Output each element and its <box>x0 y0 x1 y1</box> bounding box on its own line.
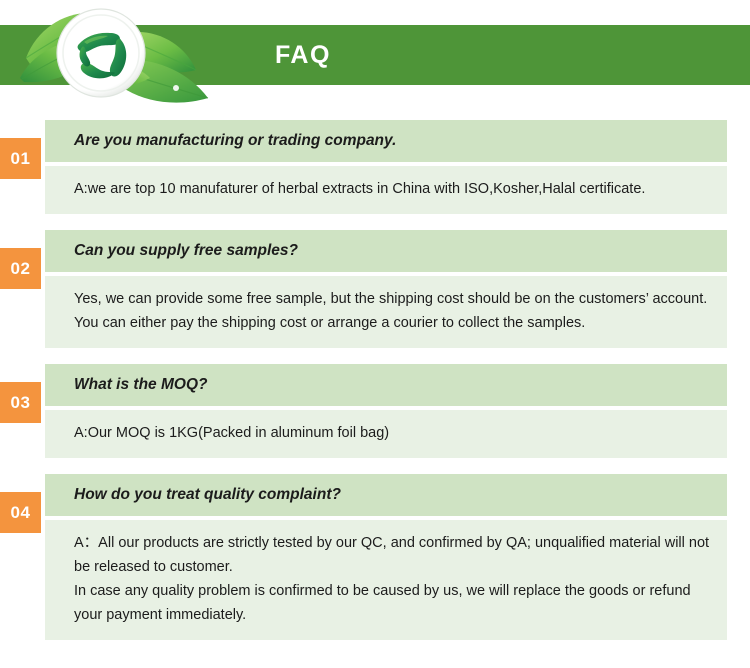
faq-answer-text: A:Our MOQ is 1KG(Packed in aluminum foil… <box>74 425 389 441</box>
faq-answer: A:Our MOQ is 1KG(Packed in aluminum foil… <box>45 410 727 458</box>
faq-item: 02 Can you supply free samples? Yes, we … <box>0 230 750 348</box>
faq-item: 03 What is the MOQ? A:Our MOQ is 1KG(Pac… <box>0 364 750 458</box>
leaf-circle-logo <box>18 0 228 112</box>
faq-list: 01 Are you manufacturing or trading comp… <box>0 120 750 640</box>
faq-number-badge: 01 <box>0 138 41 179</box>
faq-number-badge: 04 <box>0 492 41 533</box>
faq-question: Are you manufacturing or trading company… <box>45 120 727 162</box>
logo-circle <box>57 9 145 97</box>
faq-number-badge: 02 <box>0 248 41 289</box>
faq-answer: Yes, we can provide some free sample, bu… <box>45 276 727 348</box>
faq-answer-text: Yes, we can provide some free sample, bu… <box>74 291 707 331</box>
faq-question-text: How do you treat quality complaint? <box>74 486 341 504</box>
faq-question: Can you supply free samples? <box>45 230 727 272</box>
faq-question: What is the MOQ? <box>45 364 727 406</box>
faq-item: 04 How do you treat quality complaint? A… <box>0 474 750 640</box>
page-header: FAQ <box>0 0 750 120</box>
faq-question-text: What is the MOQ? <box>74 376 207 394</box>
faq-answer: A：All our products are strictly tested b… <box>45 520 727 640</box>
faq-question: How do you treat quality complaint? <box>45 474 727 516</box>
faq-answer-text: A：All our products are strictly tested b… <box>74 535 709 623</box>
faq-number-badge: 03 <box>0 382 41 423</box>
faq-answer-text: A:we are top 10 manufaturer of herbal ex… <box>74 181 645 197</box>
faq-answer: A:we are top 10 manufaturer of herbal ex… <box>45 166 727 214</box>
faq-question-text: Are you manufacturing or trading company… <box>74 132 396 150</box>
page-title: FAQ <box>275 25 331 85</box>
faq-item: 01 Are you manufacturing or trading comp… <box>0 120 750 214</box>
faq-question-text: Can you supply free samples? <box>74 242 298 260</box>
